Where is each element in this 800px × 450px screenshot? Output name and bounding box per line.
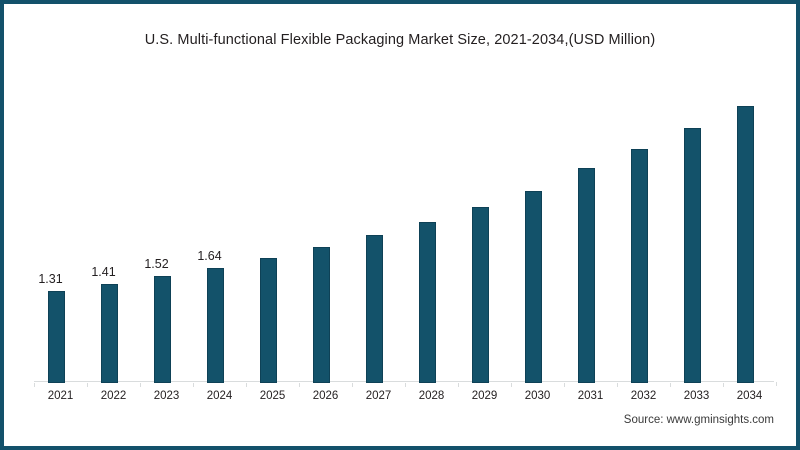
- bar-2033[interactable]: [684, 128, 701, 383]
- bar-slot: 1.31: [34, 76, 87, 384]
- x-axis-label-2026: 2026: [299, 390, 352, 402]
- bar-value-label-2022: 1.41: [77, 265, 130, 279]
- x-axis-tick: [670, 383, 671, 387]
- bar-slot: [405, 76, 458, 384]
- bar-value-label-2023: 1.52: [130, 257, 183, 271]
- x-axis-tick: [776, 382, 777, 386]
- bar-2030[interactable]: [525, 191, 542, 383]
- x-axis-labels: 2021202220232024202520262027202820292030…: [34, 390, 774, 408]
- bar-slot: [246, 76, 299, 384]
- x-axis-label-2023: 2023: [140, 390, 193, 402]
- bar-slot: [299, 76, 352, 384]
- x-axis-tick: [564, 383, 565, 387]
- bar-2022[interactable]: [101, 284, 118, 383]
- source-note: Source: www.gminsights.com: [624, 414, 774, 426]
- x-axis-tick: [246, 383, 247, 387]
- bar-2021[interactable]: [48, 291, 65, 383]
- bar-2031[interactable]: [578, 168, 595, 383]
- bar-2024[interactable]: [207, 268, 224, 383]
- bar-slot: [723, 76, 776, 384]
- bar-slot: 1.41: [87, 76, 140, 384]
- x-axis-label-2034: 2034: [723, 390, 776, 402]
- bar-2029[interactable]: [472, 207, 489, 383]
- x-axis-tick: [458, 383, 459, 387]
- bar-2027[interactable]: [366, 235, 383, 383]
- x-axis-label-2031: 2031: [564, 390, 617, 402]
- bar-slot: [511, 76, 564, 384]
- x-axis-label-2033: 2033: [670, 390, 723, 402]
- bar-slot: [564, 76, 617, 384]
- bar-slot: [458, 76, 511, 384]
- x-axis-tick: [723, 383, 724, 387]
- bar-slot: [670, 76, 723, 384]
- x-axis-label-2032: 2032: [617, 390, 670, 402]
- x-axis-tick: [617, 383, 618, 387]
- bar-value-label-2021: 1.31: [24, 272, 77, 286]
- chart-card: U.S. Multi-functional Flexible Packaging…: [0, 0, 800, 450]
- x-axis-label-2030: 2030: [511, 390, 564, 402]
- bar-slot: 1.64: [193, 76, 246, 384]
- bar-slot: 1.52: [140, 76, 193, 384]
- x-axis-tick: [140, 383, 141, 387]
- bar-slot: [352, 76, 405, 384]
- bar-2025[interactable]: [260, 258, 277, 383]
- x-axis-tick: [352, 383, 353, 387]
- x-axis-tick: [87, 383, 88, 387]
- bar-2026[interactable]: [313, 247, 330, 383]
- plot-area: 1.311.411.521.64: [34, 74, 774, 384]
- x-axis-label-2024: 2024: [193, 390, 246, 402]
- x-axis-label-2029: 2029: [458, 390, 511, 402]
- x-axis-tick: [299, 383, 300, 387]
- x-axis-tick: [34, 383, 35, 387]
- x-axis-tick: [511, 383, 512, 387]
- bar-2023[interactable]: [154, 276, 171, 383]
- x-axis-label-2028: 2028: [405, 390, 458, 402]
- bar-slot: [617, 76, 670, 384]
- x-axis-label-2022: 2022: [87, 390, 140, 402]
- bar-2028[interactable]: [419, 222, 436, 383]
- x-axis-tick: [405, 383, 406, 387]
- bar-value-label-2024: 1.64: [183, 249, 236, 263]
- x-axis-label-2027: 2027: [352, 390, 405, 402]
- chart-title: U.S. Multi-functional Flexible Packaging…: [4, 32, 796, 48]
- x-axis-tick: [193, 383, 194, 387]
- bar-2032[interactable]: [631, 149, 648, 383]
- bar-2034[interactable]: [737, 106, 754, 383]
- x-axis-label-2021: 2021: [34, 390, 87, 402]
- x-axis-label-2025: 2025: [246, 390, 299, 402]
